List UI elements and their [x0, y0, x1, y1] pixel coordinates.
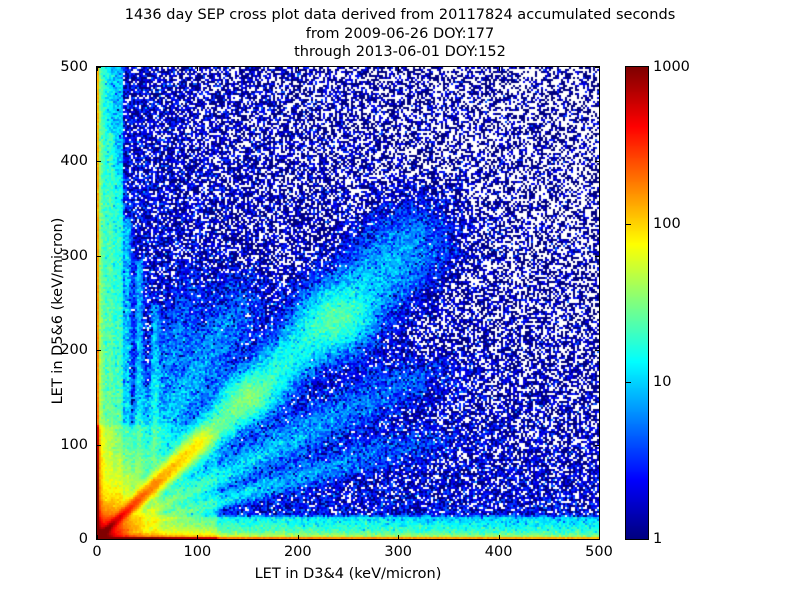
- x-tick-400: [499, 67, 500, 71]
- y-tick-300: [97, 256, 101, 257]
- x-tick-300: [398, 535, 399, 539]
- y-tick-200: [97, 350, 101, 351]
- chart-title: 1436 day SEP cross plot data derived fro…: [0, 6, 800, 62]
- x-tick-200: [298, 67, 299, 71]
- density-scatter-canvas: [97, 67, 599, 539]
- colorbar-label-wrapper: Counts: [700, 0, 720, 600]
- colorbar-tick-10: [626, 382, 631, 383]
- y-tick-500: [595, 67, 599, 68]
- colorbar: [625, 66, 649, 540]
- colorbar-tick-label-1: 1: [653, 531, 662, 547]
- y-axis-label-wrapper: LET in D5&6 (keV/micron): [18, 0, 38, 600]
- x-tick-100: [197, 67, 198, 71]
- y-axis-label: LET in D5&6 (keV/micron): [50, 211, 66, 411]
- y-tick-label-0: 0: [40, 531, 88, 547]
- y-tick-400: [97, 161, 101, 162]
- plot-area: [96, 66, 600, 540]
- x-tick-500: [599, 67, 600, 71]
- y-tick-0: [595, 539, 599, 540]
- y-tick-label-400: 400: [40, 153, 88, 169]
- colorbar-tick-100: [626, 224, 631, 225]
- x-tick-400: [499, 535, 500, 539]
- colorbar-gradient: [626, 67, 648, 539]
- y-tick-label-100: 100: [40, 437, 88, 453]
- x-tick-label-400: 400: [485, 544, 513, 560]
- x-tick-label-100: 100: [184, 544, 212, 560]
- figure: 1436 day SEP cross plot data derived fro…: [0, 0, 800, 600]
- x-axis-label: LET in D3&4 (keV/micron): [96, 566, 600, 582]
- y-tick-0: [97, 539, 101, 540]
- y-tick-300: [595, 256, 599, 257]
- x-tick-label-300: 300: [384, 544, 412, 560]
- x-tick-500: [599, 535, 600, 539]
- y-tick-label-500: 500: [40, 59, 88, 75]
- x-tick-label-500: 500: [585, 544, 613, 560]
- x-tick-100: [197, 535, 198, 539]
- colorbar-tick-label-1000: 1000: [653, 59, 690, 75]
- colorbar-tick-label-10: 10: [653, 374, 671, 390]
- x-tick-200: [298, 535, 299, 539]
- y-tick-100: [595, 445, 599, 446]
- x-tick-300: [398, 67, 399, 71]
- y-tick-200: [595, 350, 599, 351]
- x-tick-label-0: 0: [92, 544, 101, 560]
- x-tick-label-200: 200: [284, 544, 312, 560]
- colorbar-tick-label-100: 100: [653, 216, 681, 232]
- y-tick-100: [97, 445, 101, 446]
- chart-title-line-1: from 2009-06-26 DOY:177: [0, 25, 800, 44]
- y-tick-500: [97, 67, 101, 68]
- chart-title-line-0: 1436 day SEP cross plot data derived fro…: [0, 6, 800, 25]
- y-tick-400: [595, 161, 599, 162]
